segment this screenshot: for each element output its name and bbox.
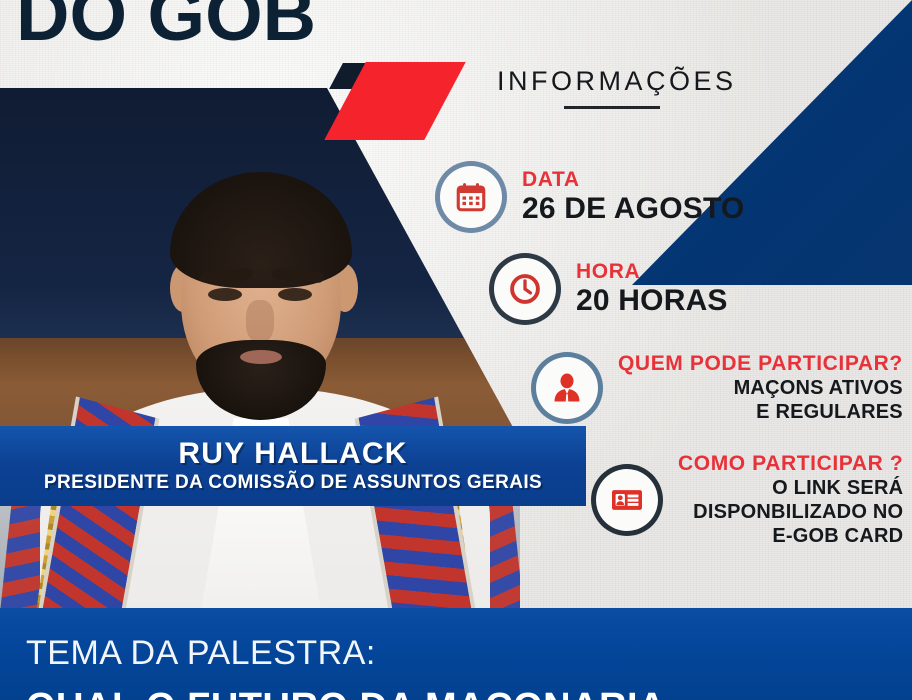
speaker-role: PRESIDENTE DA COMISSÃO DE ASSUNTOS GERAI… (44, 471, 542, 495)
eye-right (278, 288, 312, 301)
mouth (240, 350, 282, 364)
info-value-como-line2: DISPONBILIZADO NO (678, 500, 903, 524)
person-icon (536, 357, 598, 419)
info-heading-text: INFORMAÇÕES (497, 66, 727, 97)
poster-title: DO GOB (0, 0, 620, 64)
info-value-como-line3: E-GOB CARD (678, 524, 903, 548)
nose (246, 300, 274, 342)
info-label-hora: HORA (576, 260, 728, 284)
info-label-quem: QUEM PODE PARTICIPAR? (618, 352, 903, 376)
info-value-data: 26 DE AGOSTO (522, 192, 744, 226)
tema-label: TEMA DA PALESTRA: (26, 634, 376, 673)
info-row-quem-pode-participar: QUEM PODE PARTICIPAR? MAÇONS ATIVOS E RE… (536, 352, 903, 424)
event-poster: DO GOB RUY HALLACK PRESIDENTE DA COMISSÃ… (0, 0, 912, 700)
info-row-como-text: COMO PARTICIPAR ? O LINK SERÁ DISPONBILI… (678, 452, 903, 548)
info-value-quem-line2: E REGULARES (618, 400, 903, 424)
info-label-data: DATA (522, 168, 744, 192)
speaker-name: RUY HALLACK (178, 437, 407, 470)
info-row-data-text: DATA 26 DE AGOSTO (522, 168, 744, 226)
info-value-hora: 20 HORAS (576, 284, 728, 318)
info-label-como: COMO PARTICIPAR ? (678, 452, 903, 476)
info-value-quem-line1: MAÇONS ATIVOS (618, 376, 903, 400)
info-row-hora-text: HORA 20 HORAS (576, 260, 728, 318)
info-heading-rule (564, 106, 660, 109)
info-row-como-participar: COMO PARTICIPAR ? O LINK SERÁ DISPONBILI… (596, 452, 903, 548)
eye-left (208, 288, 242, 301)
poster-title-text: DO GOB (16, 0, 316, 52)
speaker-hair (170, 172, 352, 288)
navy-corner-shape (632, 0, 912, 285)
info-value-como-line1: O LINK SERÁ (678, 476, 903, 500)
info-row-data: DATA 26 DE AGOSTO (440, 166, 744, 228)
clock-icon (494, 258, 556, 320)
info-row-hora: HORA 20 HORAS (494, 258, 728, 320)
calendar-icon (440, 166, 502, 228)
speaker-name-banner: RUY HALLACK PRESIDENTE DA COMISSÃO DE AS… (0, 426, 586, 506)
info-heading: INFORMAÇÕES (497, 66, 727, 109)
info-row-quem-text: QUEM PODE PARTICIPAR? MAÇONS ATIVOS E RE… (618, 352, 903, 424)
id-card-icon (596, 469, 658, 531)
tema-value: QUAL O FUTURO DA MAÇONARIA (26, 686, 666, 700)
